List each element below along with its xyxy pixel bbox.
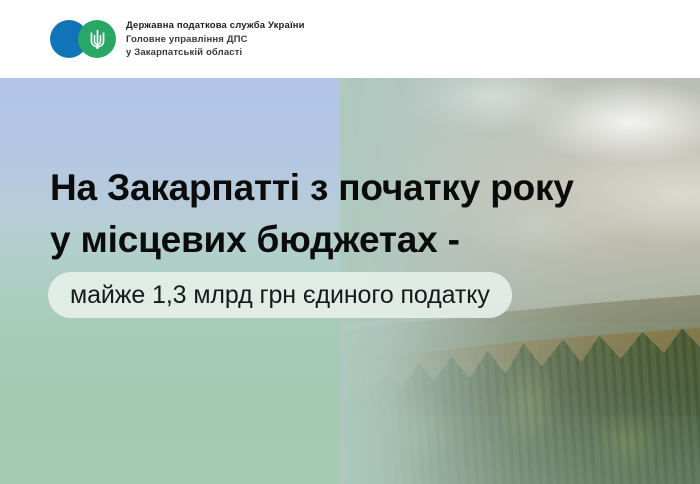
agency-logo[interactable]: Державна податкова служба України Головн…	[50, 19, 305, 59]
trident-icon	[89, 29, 106, 50]
logo-marks	[50, 20, 116, 58]
highlight-pill: майже 1,3 млрд грн єдиного податку	[48, 272, 512, 318]
green-circle-icon	[78, 20, 116, 58]
agency-region-line: у Закарпатській області	[126, 47, 305, 60]
agency-department-line: Головне управління ДПС	[126, 34, 305, 47]
agency-name-line: Державна податкова служба України	[126, 19, 305, 32]
banner-content: На Закарпатті з початку року у місцевих …	[0, 78, 700, 484]
headline-line-2: у місцевих бюджетах -	[50, 214, 574, 266]
highlight-pill-text: майже 1,3 млрд грн єдиного податку	[70, 272, 490, 318]
headline-line-1: На Закарпатті з початку року	[50, 162, 574, 214]
news-banner: Державна податкова служба України Головн…	[0, 0, 700, 484]
agency-logo-text: Державна податкова служба України Головн…	[126, 19, 305, 59]
header-bar: Державна податкова служба України Головн…	[0, 0, 700, 78]
headline: На Закарпатті з початку року у місцевих …	[50, 162, 574, 266]
